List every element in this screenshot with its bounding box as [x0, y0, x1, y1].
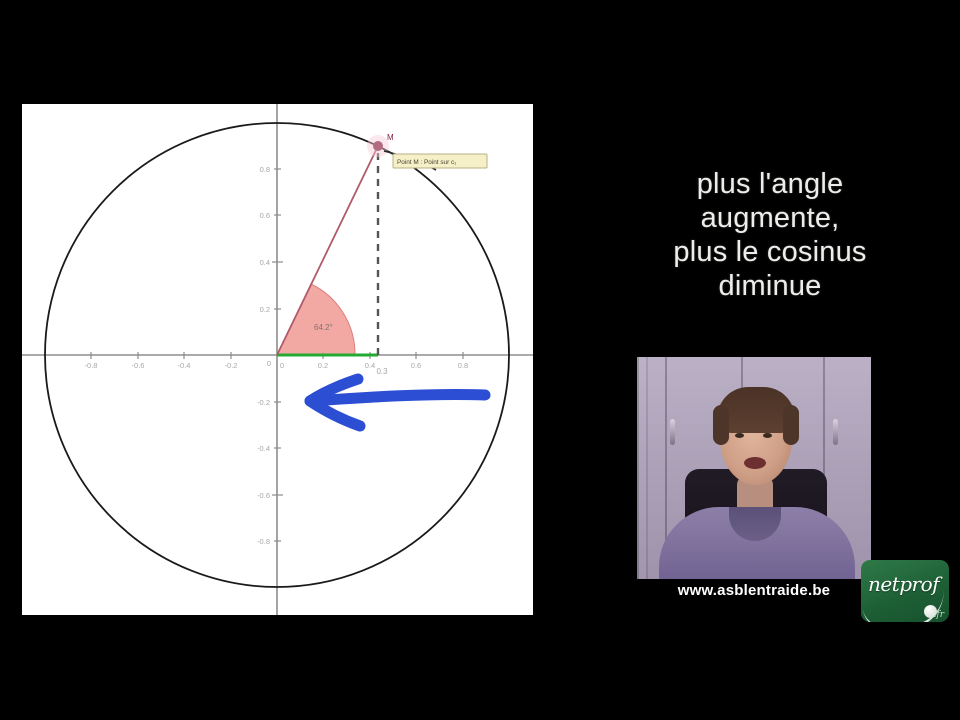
person-eye-left: [735, 433, 744, 438]
svg-text:-0.4: -0.4: [257, 444, 270, 453]
svg-text:0.2: 0.2: [318, 361, 328, 370]
svg-text:0.2: 0.2: [260, 305, 270, 314]
svg-text:0: 0: [280, 361, 284, 370]
point-m-halo: [367, 135, 389, 157]
caption-line-2: augmente,: [600, 202, 940, 236]
svg-text:-0.8: -0.8: [85, 361, 98, 370]
webcam-video[interactable]: [637, 357, 871, 579]
caption-line-3: plus le cosinus: [600, 236, 940, 270]
svg-text:-0.2: -0.2: [225, 361, 238, 370]
person-hair-right: [783, 405, 799, 445]
logo-tld: .fr: [934, 610, 945, 620]
point-tooltip[interactable]: Point M : Point sur c₁: [393, 154, 487, 168]
tooltip-label: Point M : Point sur c₁: [397, 159, 456, 166]
svg-text:0.6: 0.6: [411, 361, 421, 370]
svg-text:-0.8: -0.8: [257, 537, 270, 546]
person-mouth: [744, 457, 766, 469]
svg-text:-0.4: -0.4: [178, 361, 191, 370]
svg-text:-0.2: -0.2: [257, 398, 270, 407]
person-hair-left: [713, 405, 729, 445]
svg-text:0.6: 0.6: [260, 211, 270, 220]
video-frame: -0.8 -0.6 -0.4 -0.2 0 0.2 0.4 0.6 0.8: [0, 0, 960, 720]
caption-text: plus l'angle augmente, plus le cosinus d…: [600, 168, 940, 304]
svg-text:0.4: 0.4: [365, 361, 375, 370]
svg-text:0.8: 0.8: [260, 165, 270, 174]
svg-text:0.4: 0.4: [260, 258, 270, 267]
unit-circle-figure[interactable]: -0.8 -0.6 -0.4 -0.2 0 0.2 0.4 0.6 0.8: [22, 104, 533, 615]
website-url: www.asblentraide.be: [637, 582, 871, 599]
closet-handle: [833, 419, 838, 445]
point-m-label: M: [387, 133, 394, 142]
cosine-value-label: 0.3: [376, 367, 388, 376]
svg-text:0.8: 0.8: [458, 361, 468, 370]
geogebra-applet-panel[interactable]: -0.8 -0.6 -0.4 -0.2 0 0.2 0.4 0.6 0.8: [22, 104, 533, 615]
svg-text:-0.6: -0.6: [132, 361, 145, 370]
svg-text:-0.6: -0.6: [257, 491, 270, 500]
origin-label: 0: [267, 359, 271, 368]
angle-value-label: 64.2°: [314, 323, 333, 332]
person-eye-right: [763, 433, 772, 438]
caption-line-1: plus l'angle: [600, 168, 940, 202]
caption-line-4: diminue: [600, 270, 940, 304]
netprof-logo[interactable]: netprof .fr: [861, 560, 949, 622]
closet-handle: [670, 419, 675, 445]
